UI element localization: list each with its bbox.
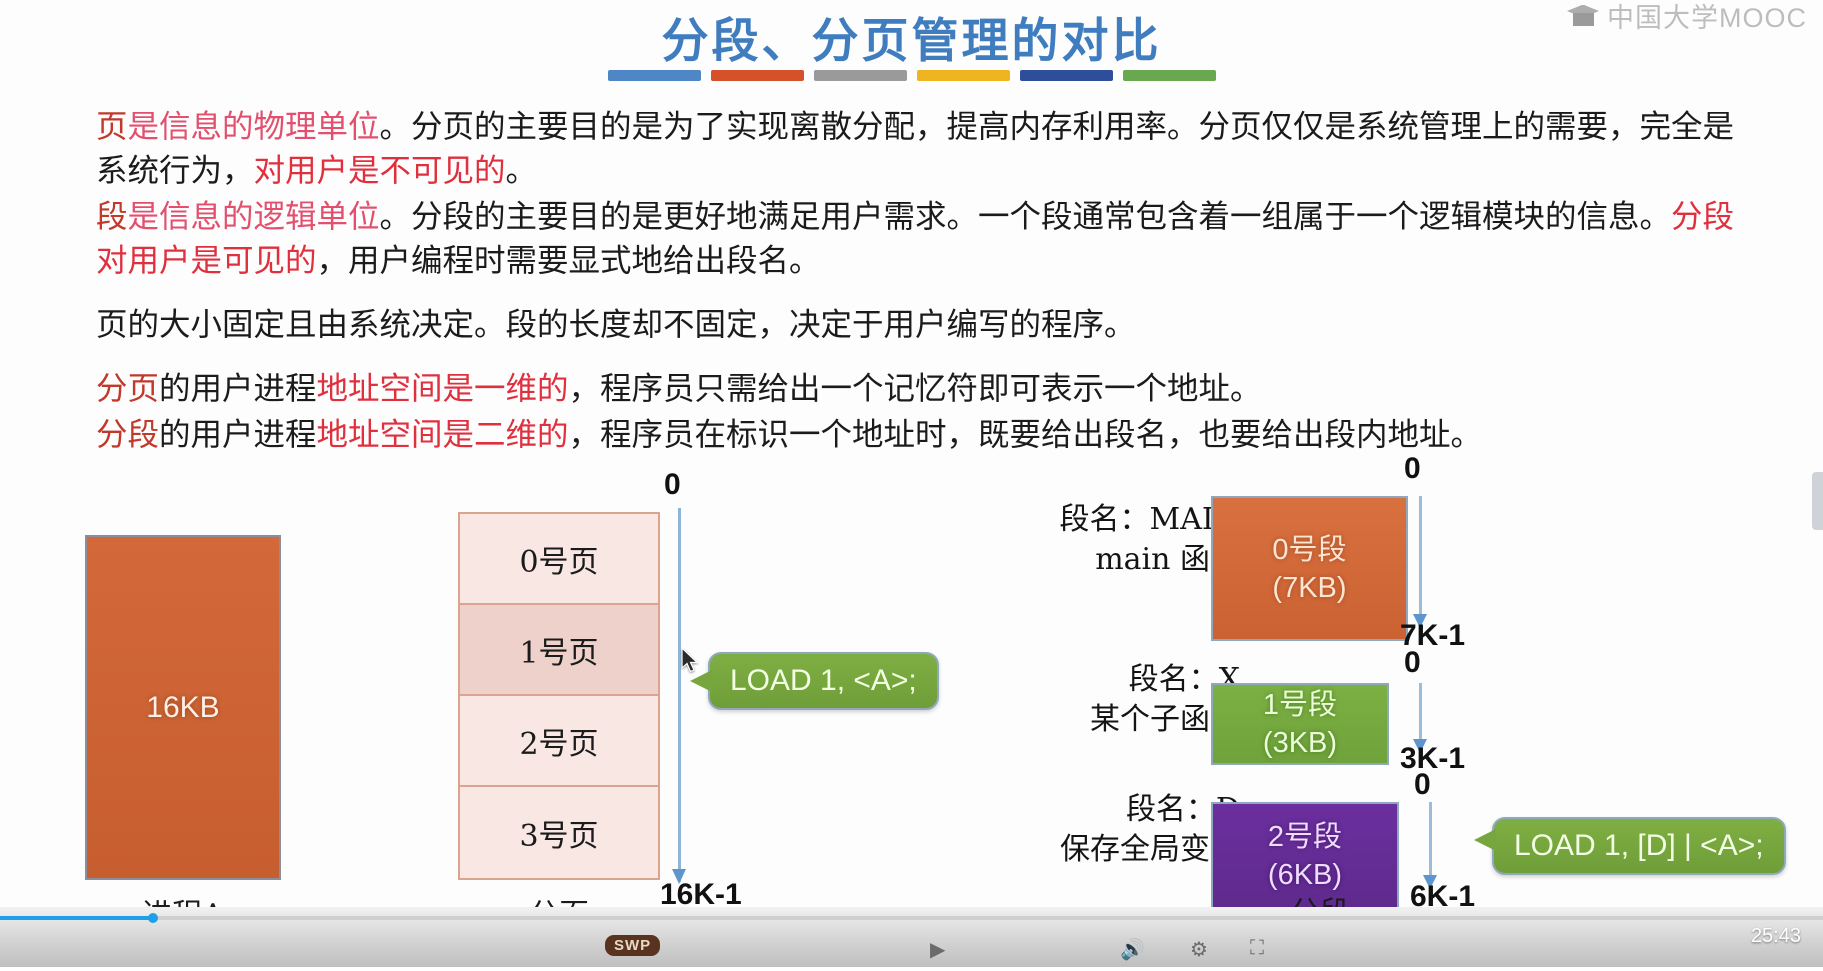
segment-box-0-title: 0号段 (1272, 531, 1346, 569)
process-a-memory-block: 16KB (85, 535, 281, 880)
play-icon[interactable]: ▶ (930, 937, 945, 962)
paragraph-segmentation-address-space: 分段的用户进程地址空间是二维的，程序员在标识一个地址时，既要给出段名，也要给出段… (96, 413, 1736, 457)
page-cell-2: 2号页 (460, 696, 658, 787)
title-bar-5 (1020, 70, 1113, 81)
page-cell-1: 1号页 (460, 605, 658, 696)
segment-2-description: 段名：D 保存全局变量 (930, 790, 1240, 870)
swp-badge: SWP (605, 935, 660, 956)
video-progress-fill (0, 916, 152, 920)
paragraph-segment-definition: 段是信息的逻辑单位。分段的主要目的是更好地满足用户需求。一个段通常包含着一组属于… (96, 195, 1736, 283)
title-bar-1 (608, 70, 701, 81)
page-table-column: 0号页 1号页 2号页 3号页 (458, 512, 660, 880)
segmentation-load-callout[interactable]: LOAD 1, [D] | <A>; (1492, 817, 1786, 875)
paragraph-size-comparison: 页的大小固定且由系统决定。段的长度却不固定，决定于用户编写的程序。 (96, 303, 1736, 347)
segment-2-addr-start: 0 (1414, 768, 1431, 802)
video-progress-handle[interactable] (148, 913, 158, 923)
settings-icon[interactable]: ⚙ (1190, 937, 1208, 962)
segment-box-1-title: 1号段 (1263, 686, 1337, 724)
slide-title: 分段、分页管理的对比 (0, 2, 1823, 71)
paging-load-callout[interactable]: LOAD 1, <A>; (708, 652, 939, 710)
kw-segment: 段 (96, 199, 128, 235)
callout-tail (1474, 829, 1496, 851)
paragraph-paging-address-space: 分页的用户进程地址空间是一维的，程序员只需给出一个记忆符即可表示一个地址。 (96, 367, 1736, 411)
paragraph-page-definition: 页是信息的物理单位。分页的主要目的是为了实现离散分配，提高内存利用率。分页仅仅是… (96, 105, 1736, 193)
kw-page-physical-unit: 是信息的物理单位 (128, 109, 380, 145)
segment-2-desc: 保存全局变量 (930, 830, 1240, 870)
kw-invisible-to-user: 对用户是不可见的 (254, 153, 506, 189)
segment-box-1: 1号段 (3KB) (1211, 683, 1389, 765)
segment-box-0: 0号段 (7KB) (1211, 496, 1408, 641)
para4-text-1: 的用户进程 (159, 371, 317, 407)
paging-address-axis (678, 508, 681, 882)
process-a-size-label: 16KB (146, 691, 219, 725)
segment-1-addr-start: 0 (1404, 646, 1421, 680)
segment-0-addr-start: 0 (1404, 452, 1421, 486)
para2-tail: ，用户编程时需要显式地给出段名。 (317, 243, 821, 279)
paging-load-callout-text: LOAD 1, <A>; (730, 664, 917, 697)
segment-1-axis (1419, 683, 1422, 751)
segment-1-description: 段名：X 某个子函数 (930, 660, 1240, 740)
para1-tail: 。 (506, 153, 538, 189)
para2-text: 。分段的主要目的是更好地满足用户需求。一个段通常包含着一组属于一个逻辑模块的信息… (380, 199, 1672, 235)
kw-paging: 分页 (96, 371, 159, 407)
video-player-bar: SWP ▶ 🔊 ⚙ ⛶ 25:43 (0, 907, 1823, 967)
segment-box-0-size: (7KB) (1272, 569, 1346, 607)
segment-1-desc: 某个子函数 (930, 700, 1240, 740)
title-bar-4 (917, 70, 1010, 81)
video-progress-bar[interactable] (0, 916, 1823, 920)
video-time-remaining: 25:43 (1751, 925, 1801, 948)
page-cell-0: 0号页 (460, 514, 658, 605)
kw-two-dimensional: 地址空间是二维的 (317, 417, 569, 453)
kw-segmentation: 分段 (96, 417, 159, 453)
kw-segment-logical-unit: 是信息的逻辑单位 (128, 199, 380, 235)
kw-page: 页 (96, 109, 128, 145)
segment-box-2-title: 2号段 (1268, 818, 1342, 856)
segment-2-axis (1429, 802, 1432, 887)
segment-box-1-size: (3KB) (1263, 724, 1337, 762)
segment-0-axis (1419, 496, 1422, 626)
page-cell-3: 3号页 (460, 787, 658, 878)
paging-address-start: 0 (664, 468, 681, 502)
fullscreen-icon[interactable]: ⛶ (1250, 937, 1264, 960)
title-bar-6 (1123, 70, 1216, 81)
kw-one-dimensional: 地址空间是一维的 (317, 371, 569, 407)
para4-text-2: ，程序员只需给出一个记忆符即可表示一个地址。 (569, 371, 1262, 407)
slide-body-text: 页是信息的物理单位。分页的主要目的是为了实现离散分配，提高内存利用率。分页仅仅是… (96, 105, 1736, 459)
segmentation-load-callout-text: LOAD 1, [D] | <A>; (1514, 829, 1764, 862)
para5-text-1: 的用户进程 (159, 417, 317, 453)
volume-icon[interactable]: 🔊 (1120, 937, 1145, 962)
title-bar-3 (814, 70, 907, 81)
para5-text-2: ，程序员在标识一个地址时，既要给出段名，也要给出段内地址。 (569, 417, 1483, 453)
diagram-area: 16KB 进程A 0号页 1号页 2号页 3号页 分页 0 16K-1 LOAD… (0, 480, 1823, 930)
title-bar-2 (711, 70, 804, 81)
segment-0-description: 段名：MAIN main 函数 (930, 500, 1240, 580)
segment-0-desc: main 函数 (930, 540, 1240, 580)
title-underline-bars (608, 70, 1216, 81)
segment-1-addr-end: 3K-1 (1400, 742, 1465, 776)
scroll-nub[interactable] (1812, 472, 1823, 530)
slide-stage: 中国大学MOOC 分段、分页管理的对比 页是信息的物理单位。分页的主要目的是为了… (0, 0, 1823, 967)
